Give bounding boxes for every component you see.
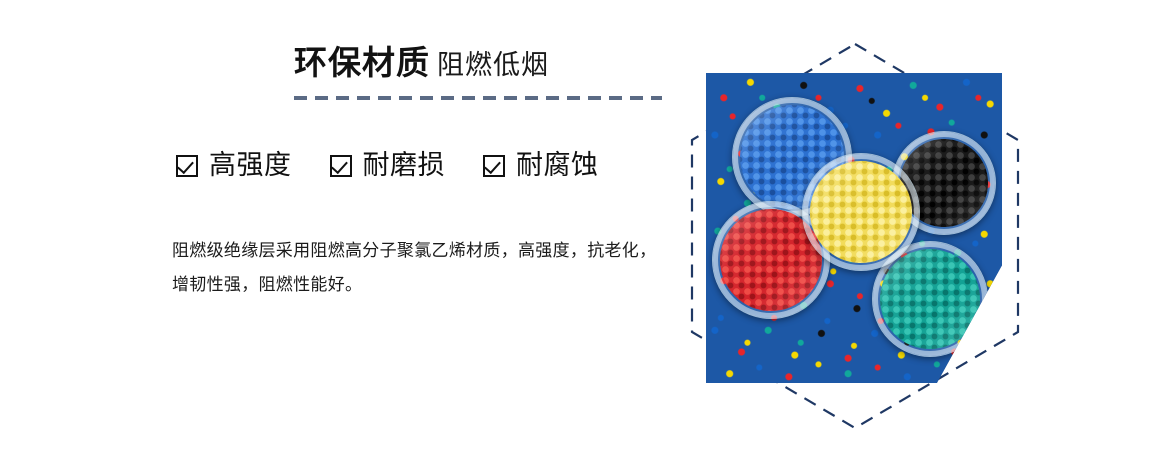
yellow-pellet-bowl [802,153,920,271]
checkbox-checked-icon [483,155,505,177]
title-dashed-rule [294,96,662,100]
feature-label: 耐腐蚀 [516,152,599,179]
title-sub-text: 阻燃低烟 [437,50,549,80]
feature-list: 高强度 耐磨损 耐腐蚀 [176,152,599,179]
feature-item-strength: 高强度 [176,152,292,179]
feature-label: 高强度 [209,152,292,179]
plastic-pellets-photo [706,73,1002,383]
checkbox-checked-icon [330,155,352,177]
title-main-text: 环保材质 [294,44,430,81]
description-paragraph: 阻燃级绝缘层采用阻燃高分子聚氯乙烯材质，高强度，抗老化，增韧性强，阻燃性能好。 [172,234,672,302]
feature-item-wear-resistance: 耐磨损 [330,152,446,179]
checkbox-checked-icon [176,155,198,177]
feature-label: 耐磨损 [363,152,446,179]
feature-item-corrosion-resistance: 耐腐蚀 [483,152,599,179]
text-column: 环保材质阻燃低烟 高强度 耐磨损 耐腐蚀 阻燃级绝缘层采用阻燃高分子聚氯乙烯材质… [0,0,690,452]
page-title: 环保材质阻燃低烟 [294,46,664,79]
product-feature-banner: 环保材质阻燃低烟 高强度 耐磨损 耐腐蚀 阻燃级绝缘层采用阻燃高分子聚氯乙烯材质… [0,0,1169,452]
hexagon-photo-area [688,40,1024,432]
